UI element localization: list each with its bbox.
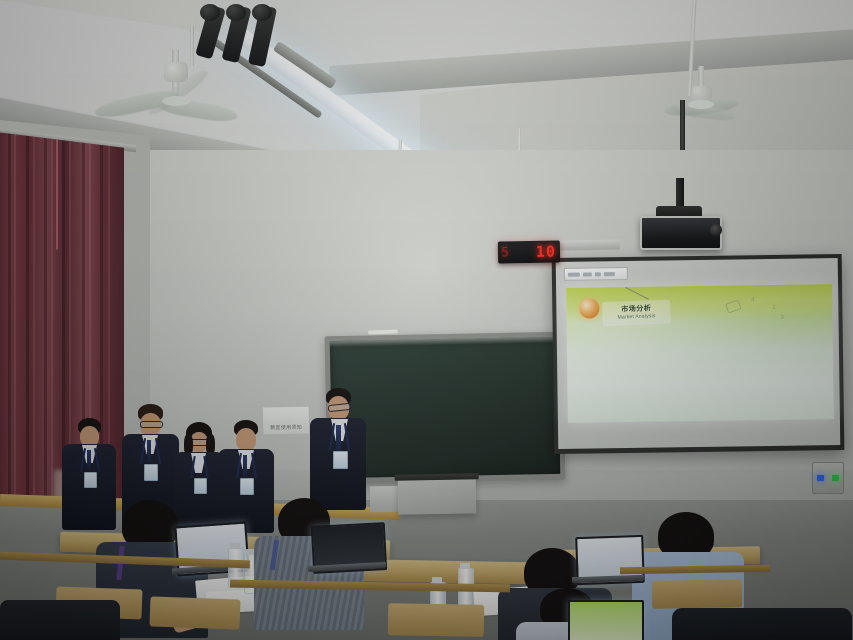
projection-screen: 市场分析 Market Analysis 4 2 3 [552, 254, 845, 454]
classroom-photo: 市场分析 Market Analysis 4 2 3 5 10 教室使用须知 [0, 0, 853, 640]
id-badge [144, 464, 158, 481]
id-badge [333, 451, 348, 469]
ceiling-conduit-2 [190, 26, 194, 66]
seat-back-2 [150, 596, 241, 629]
podium[interactable] [398, 477, 477, 514]
timer-prefix-digit: 5 [501, 245, 509, 260]
timer-digits: 10 [536, 244, 556, 259]
status-led-icon [832, 475, 839, 481]
wall-control-panel[interactable] [812, 462, 844, 494]
power-led-icon [817, 475, 824, 481]
ceiling-device-box [560, 239, 620, 250]
bottle-cap-3 [432, 577, 442, 583]
slide-mark-3: 3 [780, 315, 783, 321]
id-badge [84, 472, 97, 488]
slide-mark-1: 4 [751, 297, 754, 303]
seat-back-3 [388, 603, 485, 637]
id-badge [240, 478, 254, 495]
slide-title-box: 市场分析 Market Analysis [602, 300, 671, 327]
projector [640, 216, 722, 250]
presenter [310, 388, 368, 508]
slide-canvas: 市场分析 Market Analysis 4 2 3 [566, 284, 834, 423]
projector-lens-icon [710, 224, 722, 236]
slide-title-en: Market Analysis [617, 314, 655, 321]
countdown-timer-display: 5 10 [498, 240, 560, 263]
ceiling-fan-left [140, 50, 260, 130]
slide-mark-2: 2 [772, 305, 775, 311]
glasses-icon [140, 421, 163, 428]
id-badge [194, 478, 207, 494]
foreground-silhouette-left [0, 600, 120, 640]
foreground-silhouette-right [672, 608, 852, 640]
presentation-toolbar [564, 267, 628, 281]
bottle-cap-1 [230, 543, 240, 549]
ceiling-fan-right [660, 66, 770, 146]
laptop-4[interactable] [568, 600, 644, 640]
slide-title-cn: 市场分析 [621, 305, 651, 313]
bottle-cap-4 [460, 563, 470, 569]
seat-back-4 [652, 579, 742, 609]
